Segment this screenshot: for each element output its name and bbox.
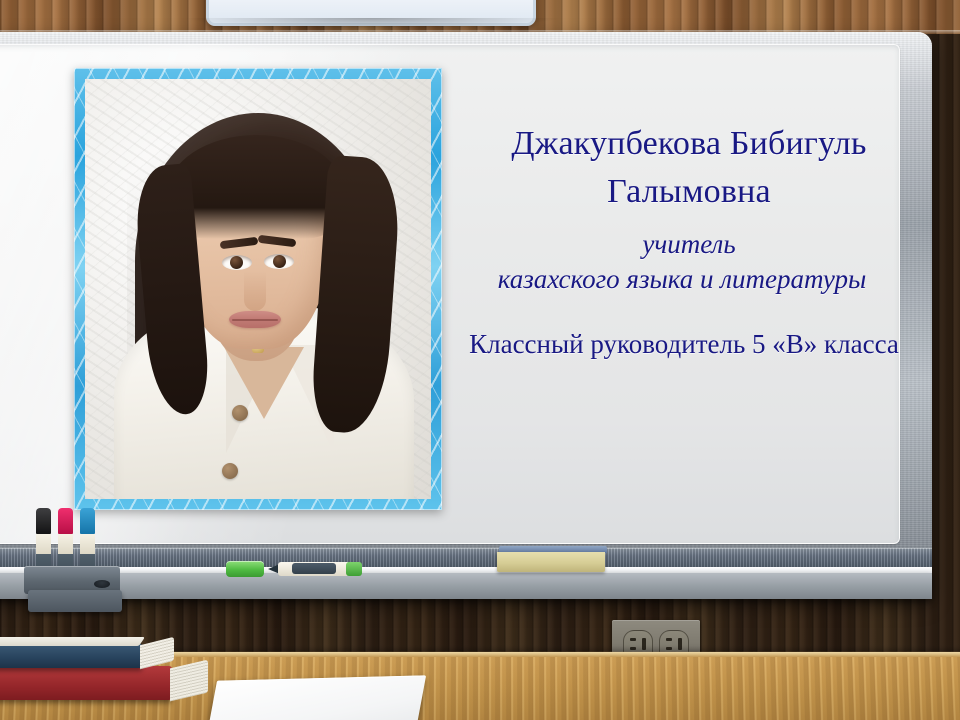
- board-ledge-front: [0, 573, 932, 599]
- teacher-name-line2: Галымовна: [607, 173, 771, 210]
- portrait-photo-frame: [74, 68, 442, 510]
- tray-empty-slot: [94, 580, 110, 588]
- white-notebook[interactable]: [206, 675, 426, 720]
- board-ledge-top: [0, 548, 932, 567]
- marker-cap: [226, 561, 264, 577]
- outlet-slot: [678, 638, 682, 650]
- teacher-name: Джакупбекова Бибигуль Галымовна: [420, 120, 958, 217]
- outlet-slot: [630, 647, 636, 650]
- blouse-button: [232, 405, 248, 421]
- tray-base: [28, 590, 122, 612]
- green-marker[interactable]: [226, 560, 362, 577]
- red-book[interactable]: [0, 666, 172, 700]
- marker-body: [36, 534, 51, 554]
- marker-grip: [292, 563, 336, 574]
- marker-cap: [80, 508, 95, 534]
- blouse-button: [222, 463, 238, 479]
- role-line2: казахского языка и литературы: [406, 262, 958, 297]
- book-top-sheet: [0, 637, 145, 646]
- outlet-slot: [666, 638, 672, 641]
- whiteboard-eraser[interactable]: [497, 546, 607, 572]
- pupil-left: [230, 256, 243, 269]
- outlet-slot: [666, 647, 672, 650]
- upper-panel-shadow: [186, 18, 558, 28]
- classroom-slide-scene: Джакупбекова Бибигуль Галымовна учитель …: [0, 0, 960, 720]
- outlet-slot: [630, 638, 636, 641]
- pupil-right: [273, 255, 286, 268]
- marker-end-cap: [346, 562, 362, 576]
- marker-cap: [58, 508, 73, 534]
- role-line1: учитель: [642, 229, 735, 259]
- marker-cap: [36, 508, 51, 534]
- portrait-photo: [85, 79, 431, 499]
- blue-book[interactable]: [0, 644, 142, 668]
- teacher-role: учитель казахского языка и литературы: [420, 227, 958, 297]
- marker-tray[interactable]: [24, 556, 120, 614]
- lips: [229, 311, 281, 328]
- slide-text-block: Джакупбекова Бибигуль Галымовна учитель …: [420, 120, 958, 362]
- teacher-name-line1: Джакупбекова Бибигуль: [511, 125, 866, 162]
- nose: [244, 271, 266, 311]
- outlet-slot: [642, 638, 646, 650]
- marker-body: [58, 534, 73, 554]
- eraser-body: [497, 552, 605, 572]
- class-teacher-line: Классный руководитель 5 «В» класса: [410, 327, 958, 362]
- marker-body: [80, 534, 95, 554]
